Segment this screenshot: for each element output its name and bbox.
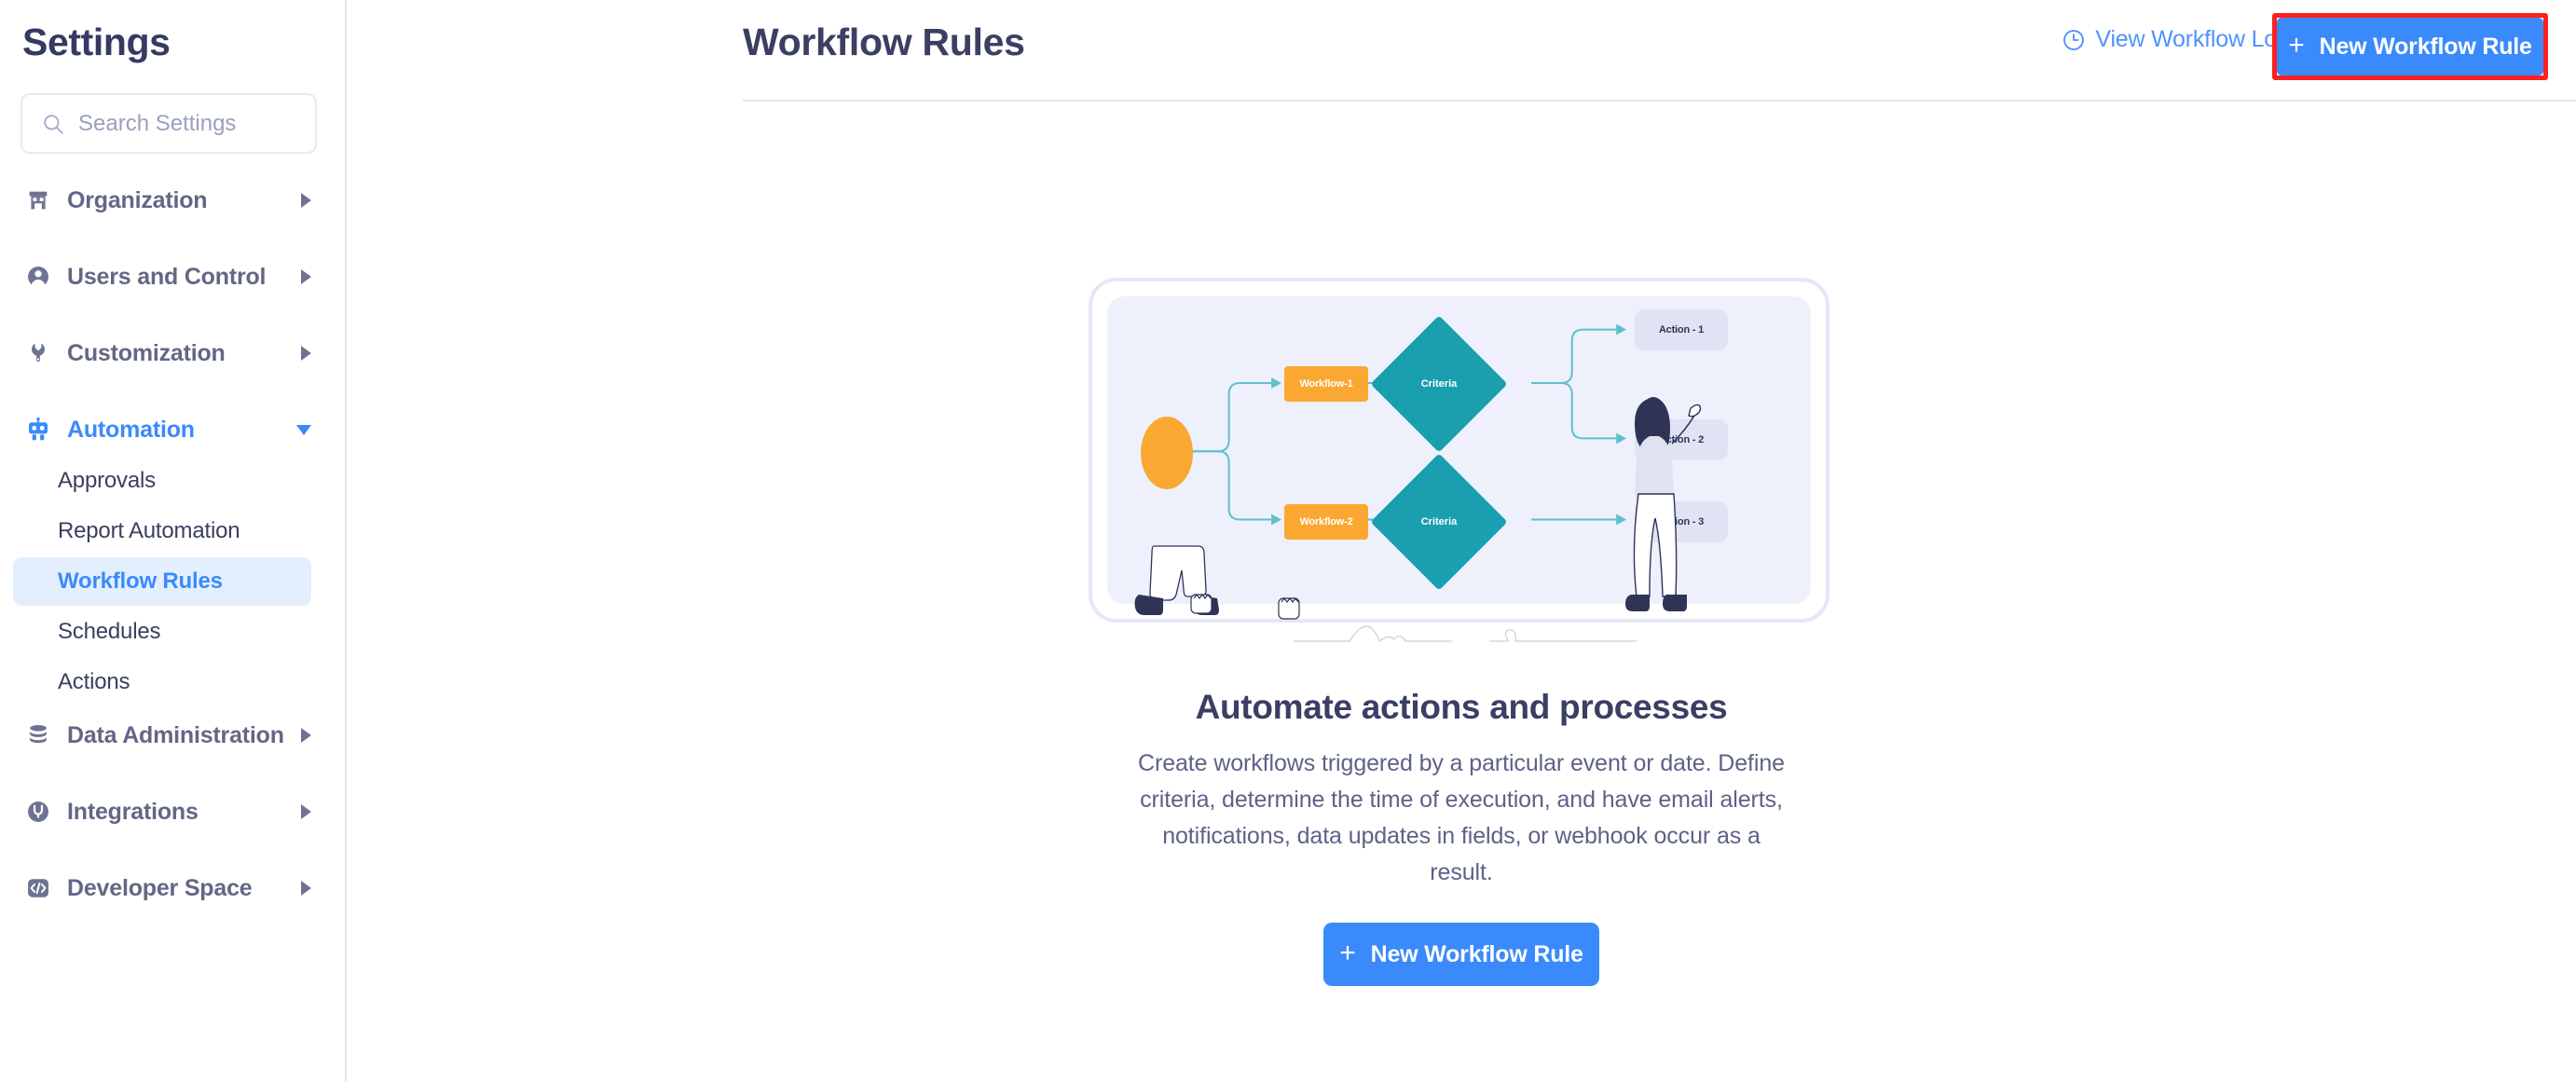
empty-state-description: Create workflows triggered by a particul… xyxy=(1135,746,1788,891)
new-workflow-rule-label: New Workflow Rule xyxy=(2320,34,2532,61)
view-workflow-logs-link[interactable]: View Workflow Logs xyxy=(2062,26,2301,53)
sidebar-item-label: Automation xyxy=(67,417,195,444)
flow-node-criteria-1: Criteria xyxy=(1391,336,1487,432)
code-icon xyxy=(22,875,54,901)
sidebar-item-label: Developer Space xyxy=(67,875,253,902)
empty-state-title: Automate actions and processes xyxy=(1196,688,1728,727)
sidebar-item-label: Integrations xyxy=(67,799,199,826)
workflow-illustration: Workflow-1 Workflow-2 Criteria Criteria … xyxy=(1089,261,1834,671)
empty-state: Workflow-1 Workflow-2 Criteria Criteria … xyxy=(347,261,2576,986)
new-workflow-rule-button-header[interactable]: + New Workflow Rule xyxy=(2277,18,2543,75)
chevron-right-icon xyxy=(301,269,311,284)
clock-icon xyxy=(2062,28,2086,52)
settings-page: Settings Search Settings Organ xyxy=(0,0,2576,1082)
chevron-right-icon xyxy=(301,346,311,361)
plug-icon xyxy=(22,799,54,825)
new-workflow-rule-highlight: + New Workflow Rule xyxy=(2272,13,2548,80)
user-circle-icon xyxy=(22,264,54,290)
sidebar-subitem-label: Workflow Rules xyxy=(58,568,223,595)
flow-start-node xyxy=(1141,417,1193,489)
sidebar-item-users-and-control[interactable]: Users and Control xyxy=(13,252,334,302)
chevron-right-icon xyxy=(301,881,311,896)
sidebar-subitem-label: Actions xyxy=(58,669,130,695)
sidebar-subitem-label: Schedules xyxy=(58,619,160,645)
search-icon xyxy=(41,112,65,136)
search-placeholder: Search Settings xyxy=(78,111,236,137)
main-content: Workflow Rules View Workflow Logs + New … xyxy=(347,0,2576,1082)
header-divider xyxy=(743,100,2576,102)
search-settings-input[interactable]: Search Settings xyxy=(21,93,317,154)
flow-node-criteria-2: Criteria xyxy=(1391,473,1487,570)
sidebar-item-automation[interactable]: Automation xyxy=(13,404,334,455)
view-workflow-logs-label: View Workflow Logs xyxy=(2095,26,2301,53)
sidebar-item-developer-space[interactable]: Developer Space xyxy=(13,863,334,913)
sidebar-item-label: Data Administration xyxy=(67,722,284,749)
new-workflow-rule-cta-label: New Workflow Rule xyxy=(1371,941,1583,968)
flow-node-workflow-2: Workflow-2 xyxy=(1284,504,1368,540)
chevron-right-icon xyxy=(301,193,311,208)
sidebar-item-label: Users and Control xyxy=(67,264,266,291)
sidebar-subitem-schedules[interactable]: Schedules xyxy=(13,608,311,656)
sidebar-item-data-administration[interactable]: Data Administration xyxy=(13,710,334,760)
sidebar-subitem-approvals[interactable]: Approvals xyxy=(13,457,311,505)
sidebar-item-label: Organization xyxy=(67,187,207,214)
page-title: Workflow Rules xyxy=(743,21,1025,64)
wrench-icon xyxy=(22,340,54,366)
sidebar-subitem-report-automation[interactable]: Report Automation xyxy=(13,507,311,555)
sidebar-subitem-label: Approvals xyxy=(58,468,156,494)
plus-icon: + xyxy=(2288,32,2304,60)
robot-icon xyxy=(22,417,54,443)
sidebar-item-label: Customization xyxy=(67,340,226,367)
sidebar-item-customization[interactable]: Customization xyxy=(13,328,334,378)
database-icon xyxy=(22,722,54,748)
flow-node-action-1: Action - 1 xyxy=(1635,309,1728,350)
building-icon xyxy=(22,187,54,213)
flow-node-workflow-1: Workflow-1 xyxy=(1284,366,1368,402)
sidebar-title: Settings xyxy=(22,21,171,64)
chevron-down-icon xyxy=(296,425,311,435)
sidebar-item-integrations[interactable]: Integrations xyxy=(13,787,334,837)
sidebar-subitem-workflow-rules[interactable]: Workflow Rules xyxy=(13,557,311,606)
settings-sidebar: Settings Search Settings Organ xyxy=(0,0,347,1082)
sidebar-subitem-actions[interactable]: Actions xyxy=(13,658,311,706)
sidebar-item-organization[interactable]: Organization xyxy=(13,175,334,226)
chevron-right-icon xyxy=(301,728,311,743)
plus-icon: + xyxy=(1339,939,1355,967)
new-workflow-rule-button-cta[interactable]: + New Workflow Rule xyxy=(1323,923,1599,986)
ground-objects-illustration xyxy=(1182,589,1741,647)
sidebar-subitem-label: Report Automation xyxy=(58,518,240,544)
chevron-right-icon xyxy=(301,804,311,819)
